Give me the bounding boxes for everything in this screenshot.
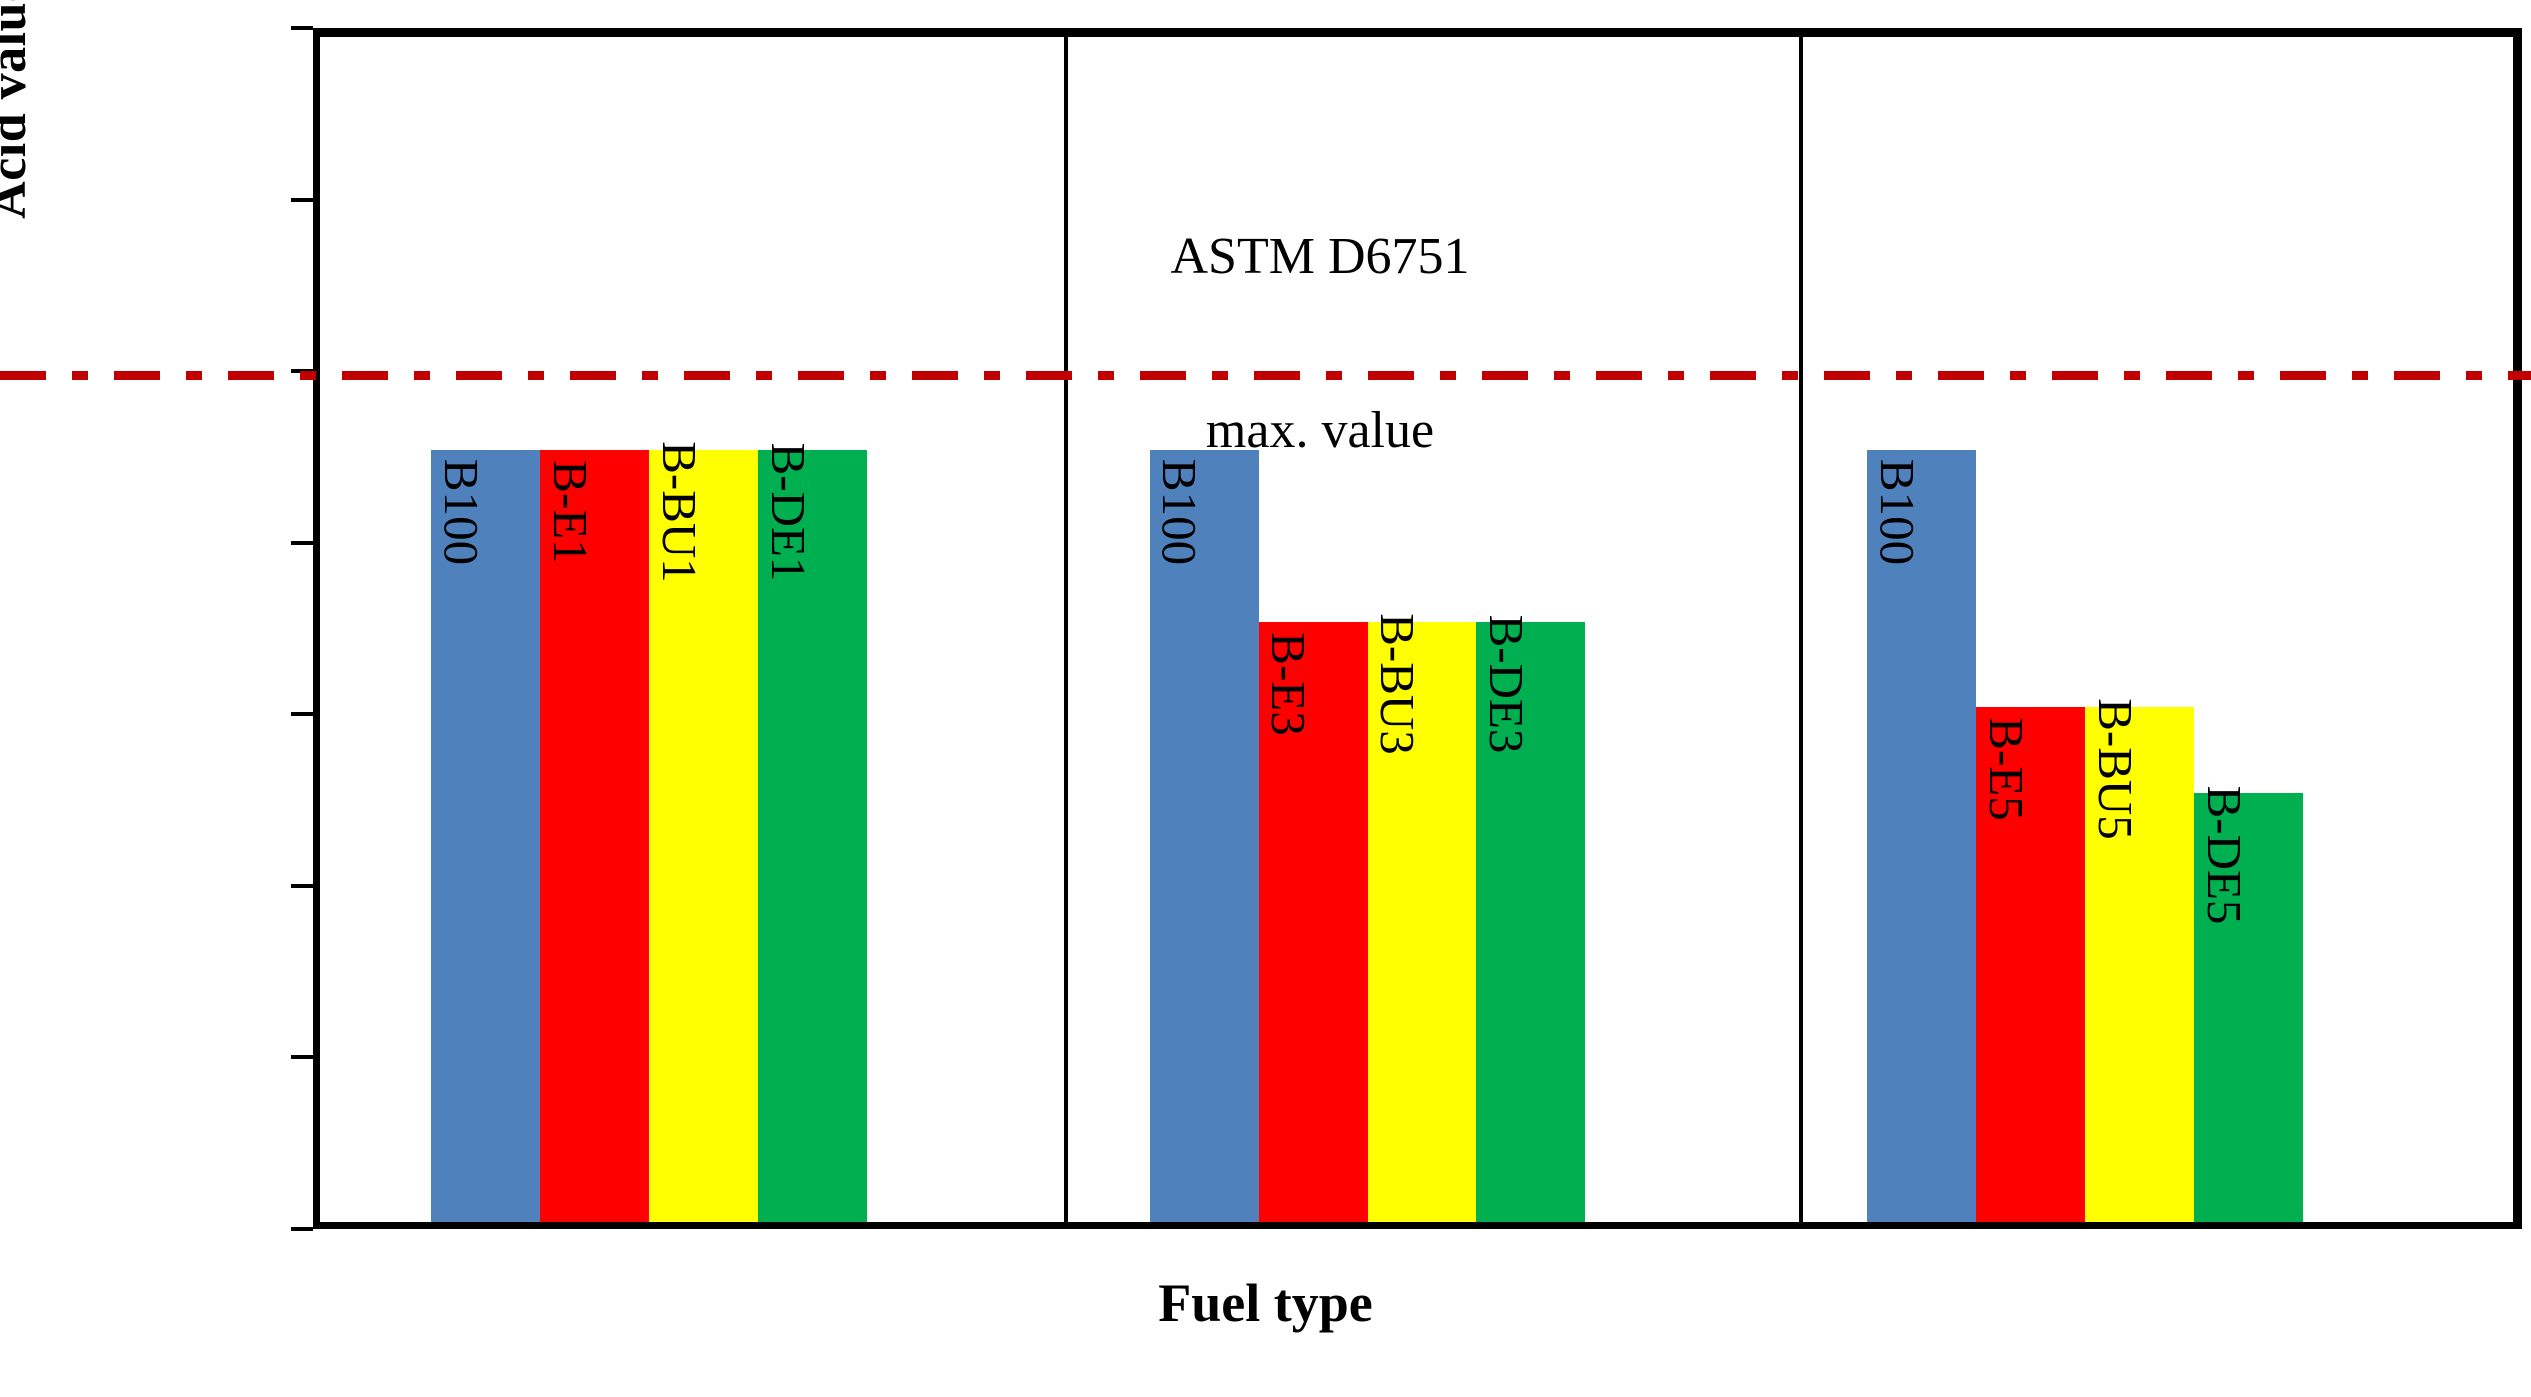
bar-b-e3[interactable]: B-E3 xyxy=(1259,622,1368,1223)
y-axis-tick-mark xyxy=(291,1227,313,1231)
plot-area: B100B-E1B-BU1B-DE1B100B-E3B-BU3B-DE3B100… xyxy=(313,28,2522,1229)
bar-b-de1[interactable]: B-DE1 xyxy=(758,450,867,1222)
group-separator-2 xyxy=(1799,37,1803,1222)
bar-b100[interactable]: B100 xyxy=(1150,450,1259,1222)
bar-label: B-BU5 xyxy=(2091,699,2140,841)
y-axis-tick-mark xyxy=(291,884,313,888)
y-axis-tick-mark xyxy=(291,712,313,716)
bar-label: B-E5 xyxy=(1982,718,2031,821)
acid-value-bar-chart: 0.540.520.50.480.460.440.420.4 Acid valu… xyxy=(0,0,2531,1397)
x-axis-title: Fuel type xyxy=(0,1272,2531,1334)
bar-label: B-DE3 xyxy=(1482,614,1531,753)
bar-b-bu5[interactable]: B-BU5 xyxy=(2085,707,2194,1222)
y-axis-tick-mark xyxy=(291,541,313,545)
y-axis-tick-mark xyxy=(291,26,313,30)
bar-b-e1[interactable]: B-E1 xyxy=(540,450,649,1222)
bar-label: B-BU1 xyxy=(655,441,704,583)
bar-label: B100 xyxy=(437,459,486,565)
y-axis-tick-mark xyxy=(291,1055,313,1059)
bar-b-de3[interactable]: B-DE3 xyxy=(1476,622,1585,1223)
y-axis-title: Acid value (mg KOH/g) xyxy=(0,0,38,300)
bar-b-bu3[interactable]: B-BU3 xyxy=(1368,622,1477,1223)
y-axis-tick-mark xyxy=(291,198,313,202)
bar-b100[interactable]: B100 xyxy=(1867,450,1976,1222)
bar-b-e5[interactable]: B-E5 xyxy=(1976,707,2085,1222)
bar-label: B100 xyxy=(1873,459,1922,565)
bar-b-de5[interactable]: B-DE5 xyxy=(2194,793,2303,1222)
bar-label: B-E1 xyxy=(546,460,595,563)
bar-label: B100 xyxy=(1155,459,1204,565)
y-axis-tick-mark xyxy=(291,369,313,373)
bar-label: B-DE1 xyxy=(764,443,813,582)
plot-inner: B100B-E1B-BU1B-DE1B100B-E3B-BU3B-DE3B100… xyxy=(320,37,2513,1222)
bar-b-bu1[interactable]: B-BU1 xyxy=(649,450,758,1222)
bar-label: B-DE5 xyxy=(2200,786,2249,925)
bar-label: B-E3 xyxy=(1264,632,1313,735)
y-axis-tick-group: 0.540.520.50.480.460.440.420.4 xyxy=(0,0,313,1397)
bar-label: B-BU3 xyxy=(1373,613,1422,755)
group-separator-1 xyxy=(1064,37,1068,1222)
bar-b100[interactable]: B100 xyxy=(431,450,540,1222)
